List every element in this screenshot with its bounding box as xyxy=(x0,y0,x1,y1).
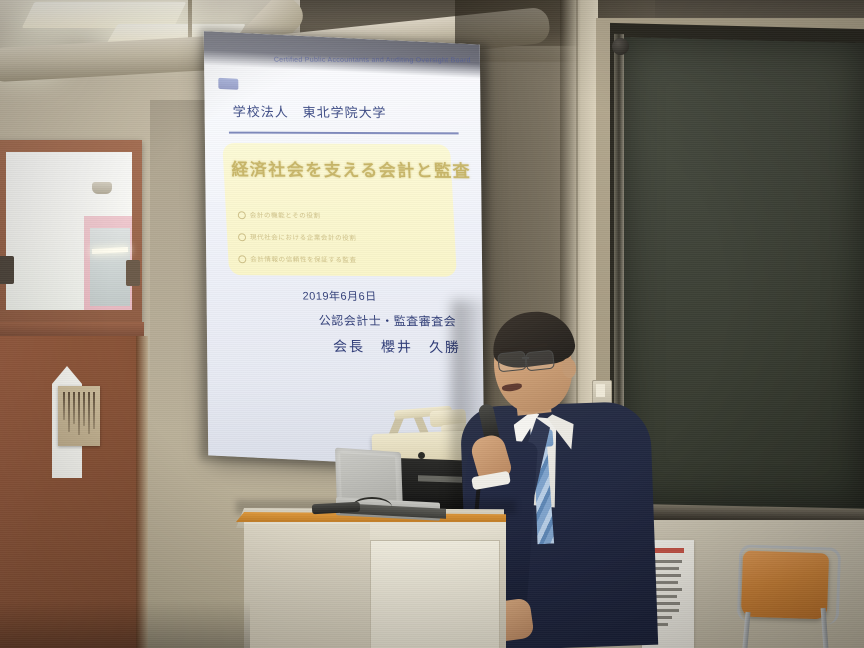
slide-date: 2019年6月6日 xyxy=(302,288,377,305)
slide-board-name: 公認会計士・監査審査会 xyxy=(318,312,456,330)
podium-front-panel xyxy=(370,540,500,648)
ceiling-sensor-icon xyxy=(92,182,112,194)
slide-speaker-name: 会長 櫻井 久勝 xyxy=(333,336,462,357)
window-latch[interactable] xyxy=(126,260,140,286)
chair-backrest[interactable] xyxy=(741,551,829,620)
floor-shadow xyxy=(0,600,250,648)
notice-text-lines xyxy=(63,392,95,440)
door-posted-notice xyxy=(58,386,100,446)
bullet-circle-icon xyxy=(238,233,246,241)
slide-english-header: Certified Public Accountants and Auditin… xyxy=(256,57,471,65)
window-sill xyxy=(0,322,144,336)
university-logo-icon xyxy=(218,78,238,90)
bullet-circle-icon xyxy=(238,211,246,219)
corridor-interior xyxy=(90,228,130,306)
slide-bullet-label: 会計の機能とその役割 xyxy=(250,212,321,220)
slide-bullet-label: 現代社会における企業会計の役割 xyxy=(250,234,357,242)
slide-bullet: 会計情報の信頼性を保証する監査 xyxy=(238,253,448,265)
glasses-bridge-icon xyxy=(522,357,529,359)
slide-organization: 学校法人 東北学院大学 xyxy=(232,101,453,122)
projection-screen: Certified Public Accountants and Auditin… xyxy=(204,31,484,469)
lecture-hall-photo: Certified Public Accountants and Auditin… xyxy=(0,0,864,648)
presentation-slide: Certified Public Accountants and Auditin… xyxy=(204,31,484,469)
slide-title: 経済社会を支える会計と監査 xyxy=(231,155,456,182)
slide-divider xyxy=(229,132,459,134)
bullet-circle-icon xyxy=(238,255,246,263)
chalkboard xyxy=(622,37,864,511)
glasses-icon xyxy=(525,350,555,372)
slide-bullet: 会計の機能とその役割 xyxy=(238,209,448,221)
slide-bullet-label: 会計情報の信頼性を保証する監査 xyxy=(250,256,357,264)
glasses-icon xyxy=(497,351,527,373)
window-latch[interactable] xyxy=(0,256,14,284)
slide-bullet: 現代社会における企業会計の役割 xyxy=(238,231,448,243)
chalkboard-knob[interactable] xyxy=(612,38,629,55)
podium-side-panel xyxy=(244,524,370,648)
